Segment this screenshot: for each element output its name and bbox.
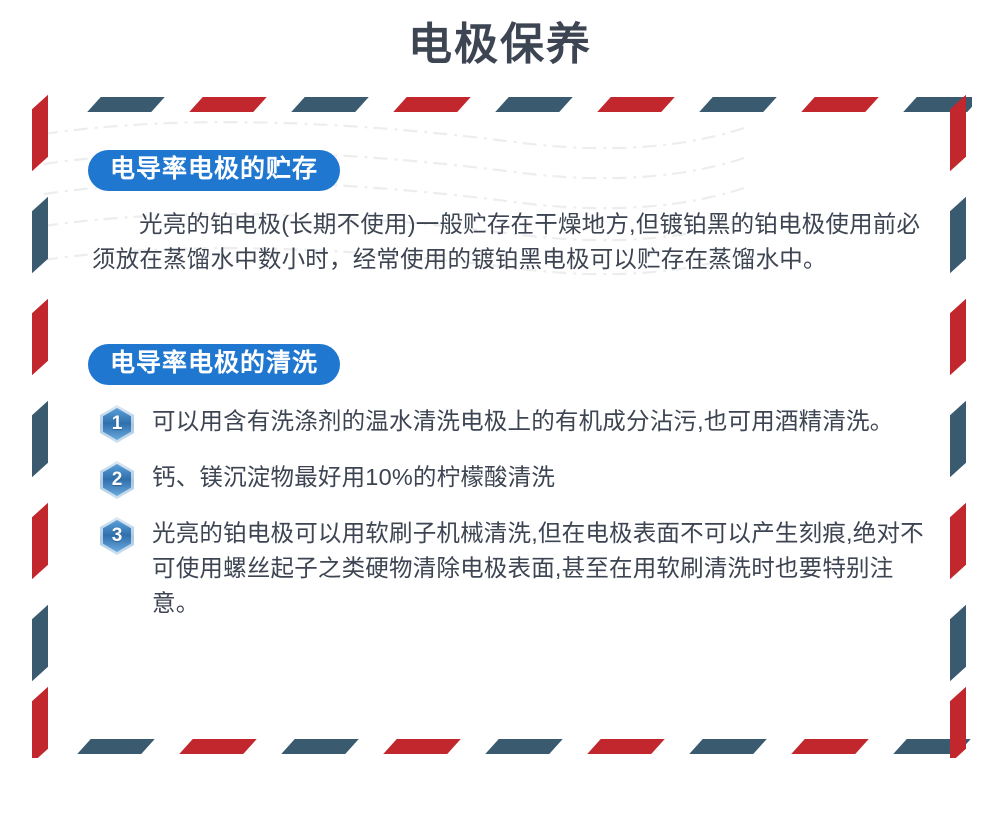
list-item-text: 钙、镁沉淀物最好用10%的柠檬酸清洗 bbox=[152, 459, 555, 495]
frame-edge-top bbox=[28, 94, 972, 116]
section-storage: 电导率电极的贮存 光亮的铂电极(长期不使用)一般贮存在干燥地方,但镀铂黑的铂电极… bbox=[88, 150, 928, 278]
card-content: 电导率电极的贮存 光亮的铂电极(长期不使用)一般贮存在干燥地方,但镀铂黑的铂电极… bbox=[88, 150, 928, 638]
section-badge-storage: 电导率电极的贮存 bbox=[88, 150, 340, 191]
frame-edge-bottom bbox=[28, 736, 972, 758]
page-title: 电极保养 bbox=[0, 0, 1000, 73]
list-item-text: 光亮的铂电极可以用软刷子机械清洗,但在电极表面不可以产生刻痕,绝对不可使用螺丝起… bbox=[152, 515, 928, 622]
list-item-text: 可以用含有洗涤剂的温水清洗电极上的有机成分沾污,也可用酒精清洗。 bbox=[152, 403, 893, 439]
list-item: 2 钙、镁沉淀物最好用10%的柠檬酸清洗 bbox=[88, 459, 928, 499]
hexagon-number-icon: 1 bbox=[100, 405, 134, 443]
frame-edge-left bbox=[28, 94, 54, 758]
section-cleaning: 电导率电极的清洗 1 可以用含有洗涤剂的温水清洗电极上的有机成分沾污,也可用酒精… bbox=[88, 344, 928, 622]
list-item-number: 2 bbox=[100, 461, 134, 499]
storage-paragraph: 光亮的铂电极(长期不使用)一般贮存在干燥地方,但镀铂黑的铂电极使用前必须放在蒸馏… bbox=[92, 207, 922, 278]
list-item-number: 3 bbox=[100, 517, 134, 555]
section-badge-cleaning: 电导率电极的清洗 bbox=[88, 344, 340, 385]
hexagon-number-icon: 2 bbox=[100, 461, 134, 499]
hexagon-number-icon: 3 bbox=[100, 517, 134, 555]
list-item: 3 光亮的铂电极可以用软刷子机械清洗,但在电极表面不可以产生刻痕,绝对不可使用螺… bbox=[88, 515, 928, 622]
airmail-frame: 电导率电极的贮存 光亮的铂电极(长期不使用)一般贮存在干燥地方,但镀铂黑的铂电极… bbox=[28, 94, 972, 758]
list-item: 1 可以用含有洗涤剂的温水清洗电极上的有机成分沾污,也可用酒精清洗。 bbox=[88, 403, 928, 443]
list-item-number: 1 bbox=[100, 405, 134, 443]
cleaning-steps-list: 1 可以用含有洗涤剂的温水清洗电极上的有机成分沾污,也可用酒精清洗。 2 钙、镁… bbox=[88, 403, 928, 622]
frame-edge-right bbox=[946, 94, 972, 758]
